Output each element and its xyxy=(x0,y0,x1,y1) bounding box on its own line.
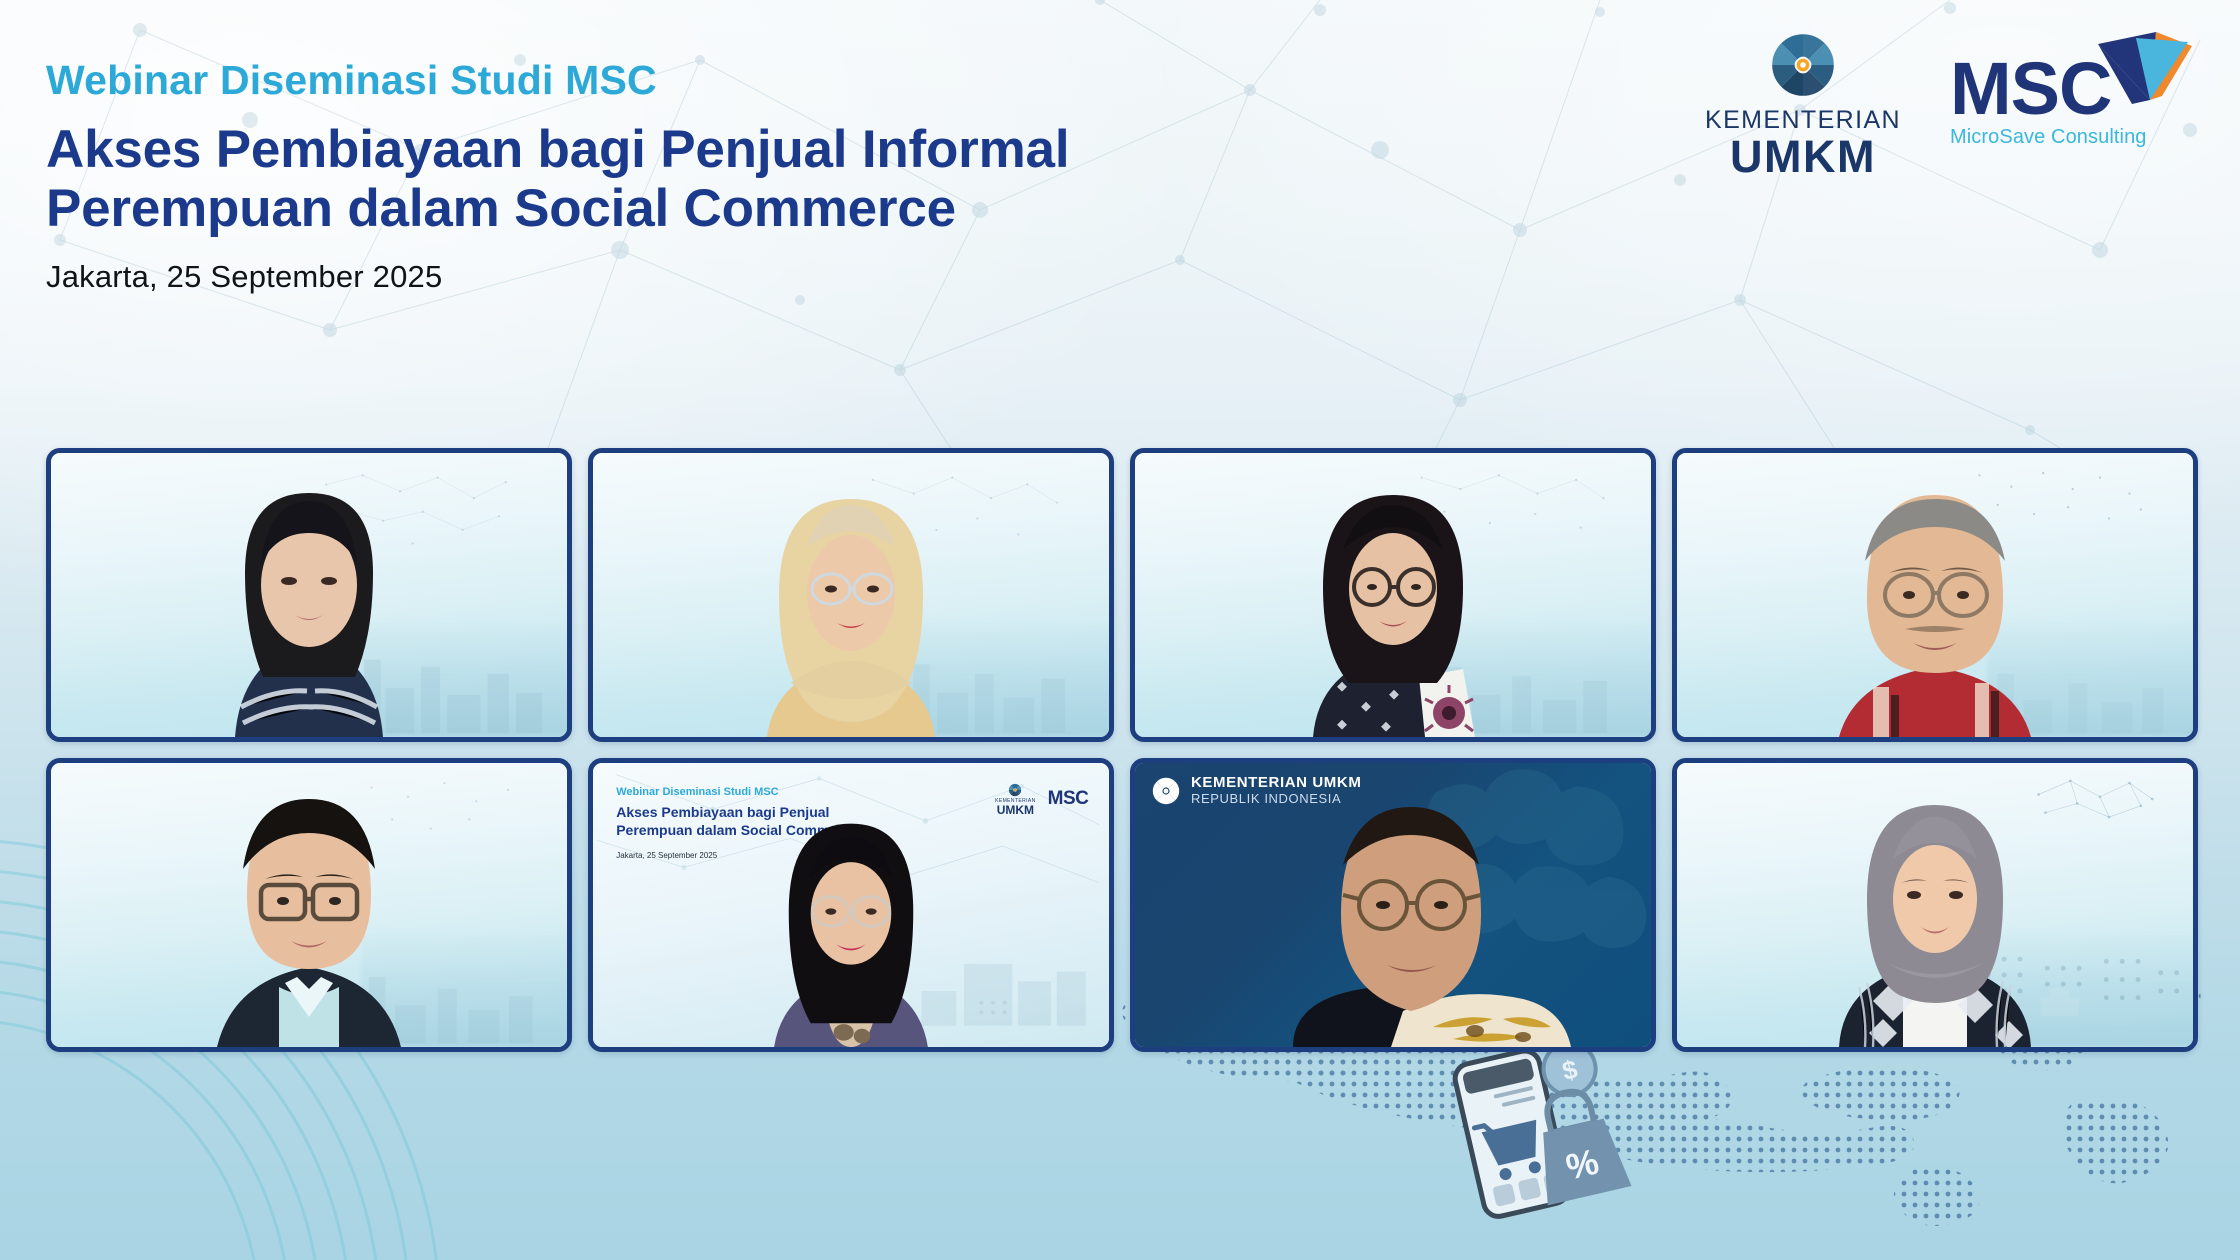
title-line-2: Perempuan dalam Social Commerce xyxy=(46,179,1546,238)
title-line-1: Akses Pembiayaan bagi Penjual Informal xyxy=(46,120,1546,179)
tile-3-participant xyxy=(1213,477,1573,737)
logo-kementerian-umkm: KEMENTERIAN UMKM xyxy=(1708,30,1898,179)
tile-6-umkm-mark-icon xyxy=(1008,783,1022,797)
video-tile-4[interactable] xyxy=(1672,448,2198,742)
video-tile-7[interactable]: KEMENTERIAN UMKM REPUBLIK INDONESIA xyxy=(1130,758,1656,1052)
tile-6-msc-logo: MSC xyxy=(1048,788,1089,810)
msc-tagline: MicroSave Consulting xyxy=(1950,126,2180,149)
umkm-logo-line2: UMKM xyxy=(1730,136,1876,179)
video-tile-3[interactable] xyxy=(1130,448,1656,742)
tile-6-slide-eyebrow: Webinar Diseminasi Studi MSC xyxy=(616,786,778,798)
slide-stage: $ % Webinar Diseminasi Studi MSC Akses P… xyxy=(0,0,2240,1260)
tile-7-participant xyxy=(1223,787,1583,1047)
video-tile-2[interactable] xyxy=(588,448,1114,742)
tile-8-participant xyxy=(1755,787,2115,1047)
tile-1-participant xyxy=(129,477,489,737)
video-tile-5[interactable] xyxy=(46,758,572,1052)
msc-swoosh-icon xyxy=(2092,30,2198,116)
logo-msc: MSC MicroSave Consulting xyxy=(1950,30,2180,149)
video-tile-8[interactable] xyxy=(1672,758,2198,1052)
slide-subtitle: Jakarta, 25 September 2025 xyxy=(46,259,1546,295)
umkm-starburst-icon xyxy=(1768,30,1838,100)
brand-logos: KEMENTERIAN UMKM MSC MicroSave Consultin… xyxy=(1708,30,2180,179)
tile-7-ministry-mark-icon xyxy=(1151,776,1181,806)
tile-5-participant xyxy=(129,787,489,1047)
tile-6-participant xyxy=(686,809,1016,1047)
video-tile-6[interactable]: Webinar Diseminasi Studi MSC Akses Pembi… xyxy=(588,758,1114,1052)
tile-4-participant xyxy=(1755,477,2115,737)
slide-eyebrow: Webinar Diseminasi Studi MSC xyxy=(46,58,1546,103)
slide-header: Webinar Diseminasi Studi MSC Akses Pembi… xyxy=(46,58,1546,295)
page-title: Akses Pembiayaan bagi Penjual Informal P… xyxy=(46,120,1546,239)
tile-2-participant xyxy=(671,477,1031,737)
video-tile-1[interactable] xyxy=(46,448,572,742)
